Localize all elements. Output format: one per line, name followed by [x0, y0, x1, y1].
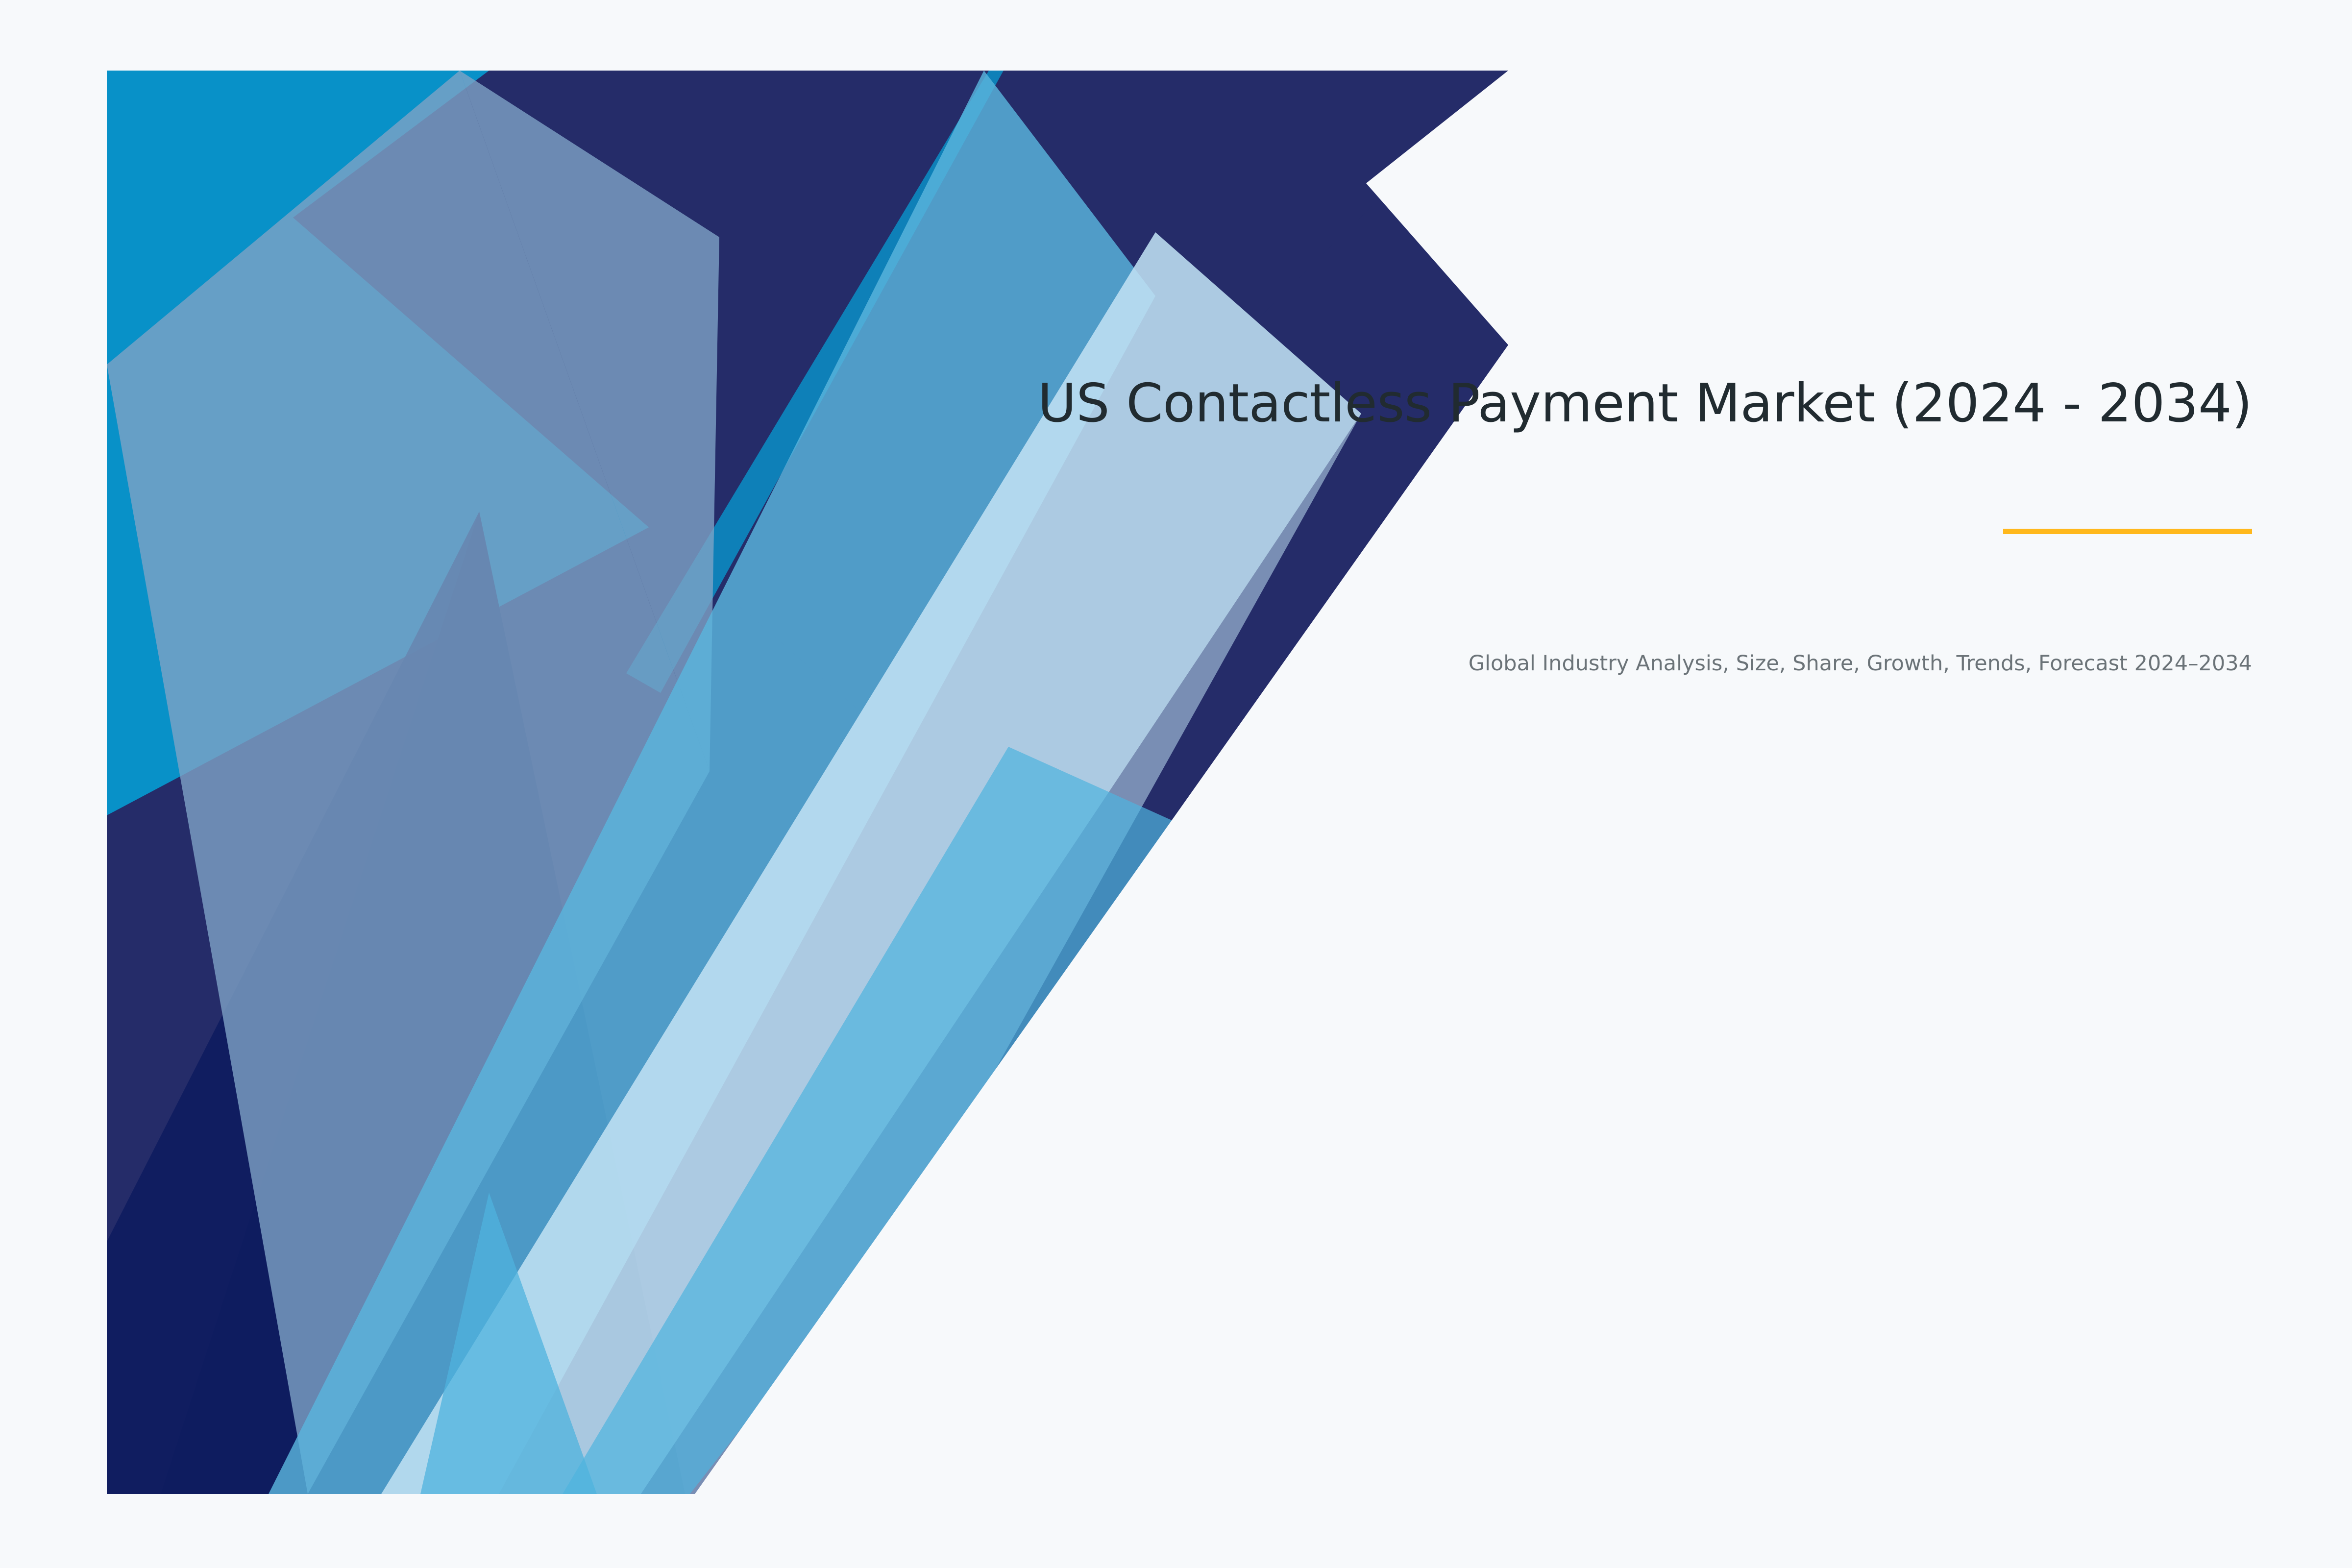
- page-title: US Contactless Payment Market (2024 - 20…: [764, 372, 2252, 435]
- title-block: US Contactless Payment Market (2024 - 20…: [764, 372, 2252, 435]
- report-cover-slide: US Contactless Payment Market (2024 - 20…: [0, 0, 2352, 1568]
- title-accent-rule: [2003, 529, 2252, 534]
- page-subtitle: Global Industry Analysis, Size, Share, G…: [1421, 649, 2252, 679]
- abstract-polygon-artwork: [107, 71, 1508, 1494]
